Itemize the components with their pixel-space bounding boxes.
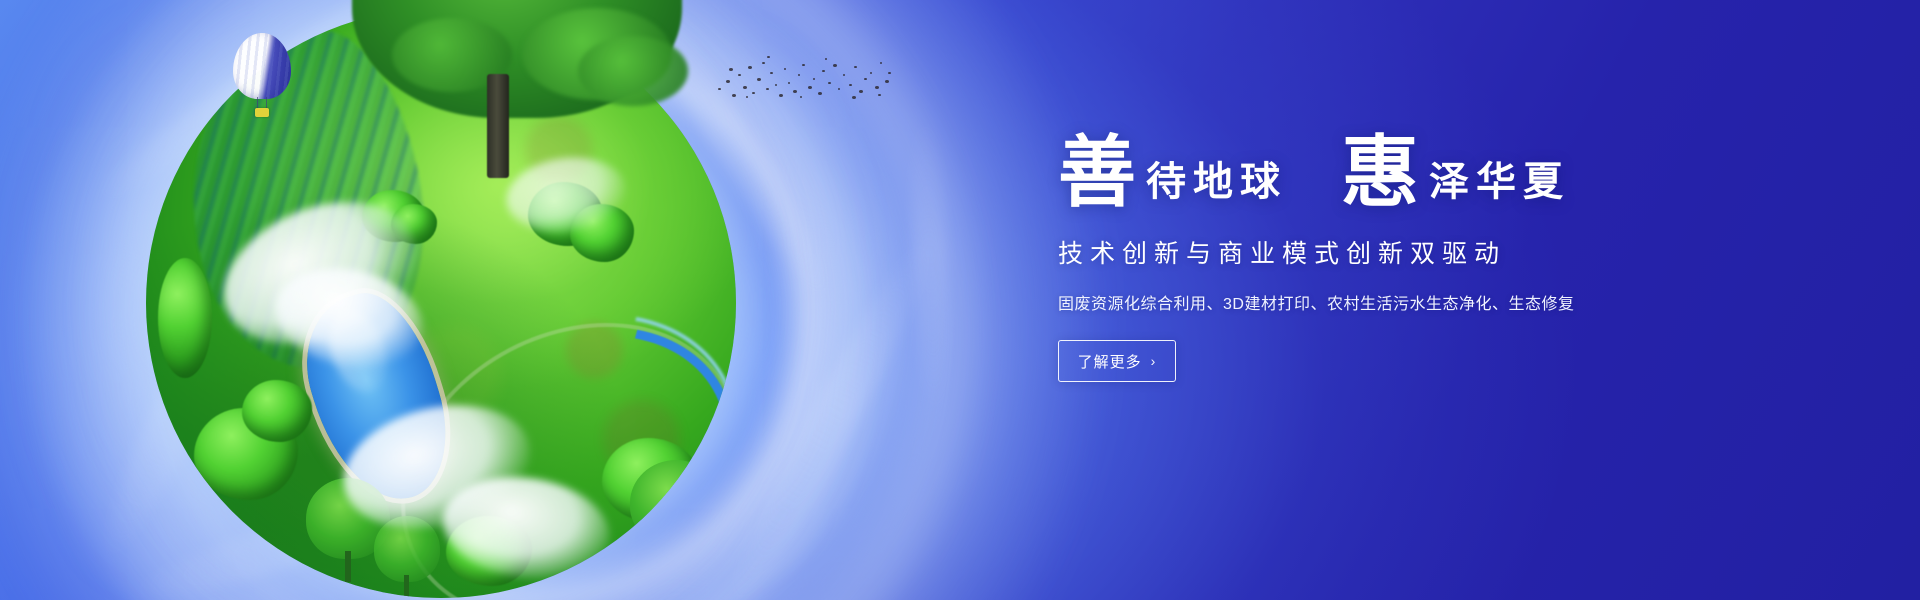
bush (242, 380, 312, 442)
bird (757, 78, 761, 81)
bird (852, 96, 856, 99)
planet-cloud (436, 467, 616, 589)
bird (779, 94, 783, 97)
cloud-wisp (908, 116, 952, 417)
bird (752, 92, 755, 94)
bush (362, 190, 424, 242)
planet-cloud (501, 150, 630, 240)
bird (748, 66, 752, 69)
bird-flock (712, 44, 892, 102)
bird (854, 66, 857, 68)
bird (746, 96, 748, 98)
bird (775, 84, 777, 86)
chevron-right-icon: › (1151, 354, 1157, 368)
bird (864, 78, 867, 80)
bird (767, 56, 770, 58)
bird (833, 64, 837, 67)
learn-more-label: 了解更多 (1078, 351, 1142, 372)
planet-cloud (266, 255, 433, 380)
balloon-envelope (233, 33, 291, 99)
bird (870, 72, 872, 74)
bird (800, 96, 802, 98)
planet-mountain-ridge (160, 18, 454, 389)
bird (838, 88, 840, 90)
bush (158, 258, 212, 378)
bird (784, 68, 786, 70)
hero-banner: 善 待地球 惠 泽华夏 技术创新与商业模式创新双驱动 固废资源化综合利用、3D建… (0, 0, 1920, 600)
bush (446, 516, 532, 586)
bird (788, 82, 790, 84)
bird (888, 72, 891, 74)
bush (528, 182, 602, 246)
planet-cloud (203, 175, 437, 370)
bird (822, 70, 825, 72)
headline-char-2: 惠 (1341, 134, 1419, 212)
bird (849, 84, 852, 86)
bush (570, 204, 634, 262)
headline-text-2: 泽华夏 (1419, 162, 1570, 208)
cloud-wisp (711, 227, 949, 600)
banner-content: 善 待地球 惠 泽华夏 技术创新与商业模式创新双驱动 固废资源化综合利用、3D建… (1058, 130, 1818, 382)
bird (878, 94, 881, 96)
page-title: 善 待地球 惠 泽华夏 (1058, 130, 1818, 208)
bird (813, 78, 815, 80)
bird (880, 62, 882, 64)
bird (766, 88, 769, 90)
bird (875, 86, 879, 89)
bird (762, 62, 765, 64)
bird (859, 90, 863, 93)
headline-text-1: 待地球 (1136, 162, 1287, 208)
balloon-basket (255, 108, 269, 117)
bird (798, 74, 800, 76)
bird (738, 74, 741, 76)
tree (374, 516, 440, 598)
lake-reflection (319, 302, 397, 401)
bird (770, 72, 773, 74)
bird (802, 64, 805, 66)
bird (828, 82, 831, 84)
bird (793, 90, 797, 93)
bird (743, 86, 747, 89)
bird (818, 92, 822, 95)
banner-subtitle: 技术创新与商业模式创新双驱动 (1058, 234, 1818, 270)
bird (808, 86, 812, 89)
learn-more-button[interactable]: 了解更多 › (1058, 340, 1176, 382)
bird (825, 58, 827, 60)
banner-description: 固废资源化综合利用、3D建材打印、农村生活污水生态净化、生态修复 (1058, 290, 1818, 314)
bush (194, 408, 298, 500)
bird (885, 80, 889, 83)
headline-char-1: 善 (1058, 134, 1136, 212)
bush (391, 204, 437, 244)
tree (702, 500, 736, 592)
hot-air-balloon (233, 33, 291, 117)
bird (843, 74, 845, 76)
